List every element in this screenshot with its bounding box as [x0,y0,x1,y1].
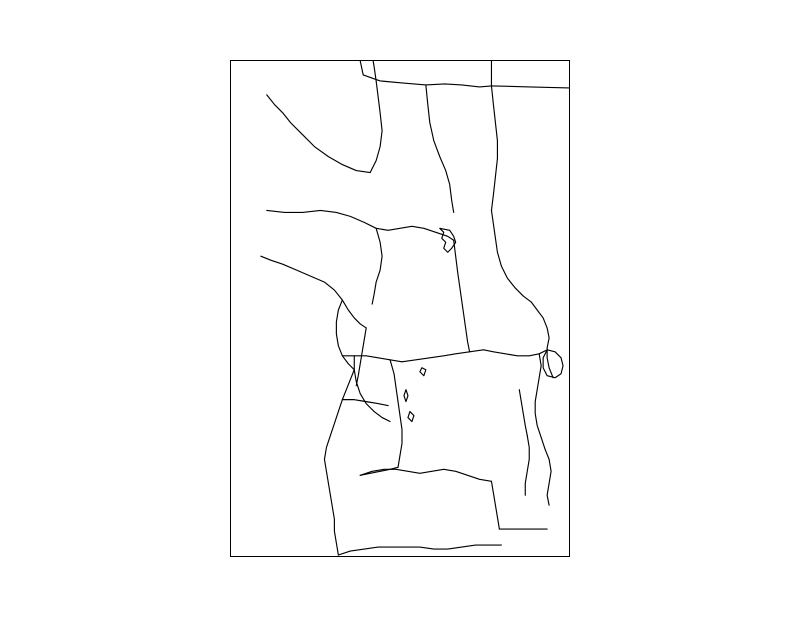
country-borders-overlay [231,61,569,556]
colorbar-top-arrow [672,62,696,79]
colorbar-bottom-arrow [672,0,696,17]
map-plot-area [230,60,570,557]
